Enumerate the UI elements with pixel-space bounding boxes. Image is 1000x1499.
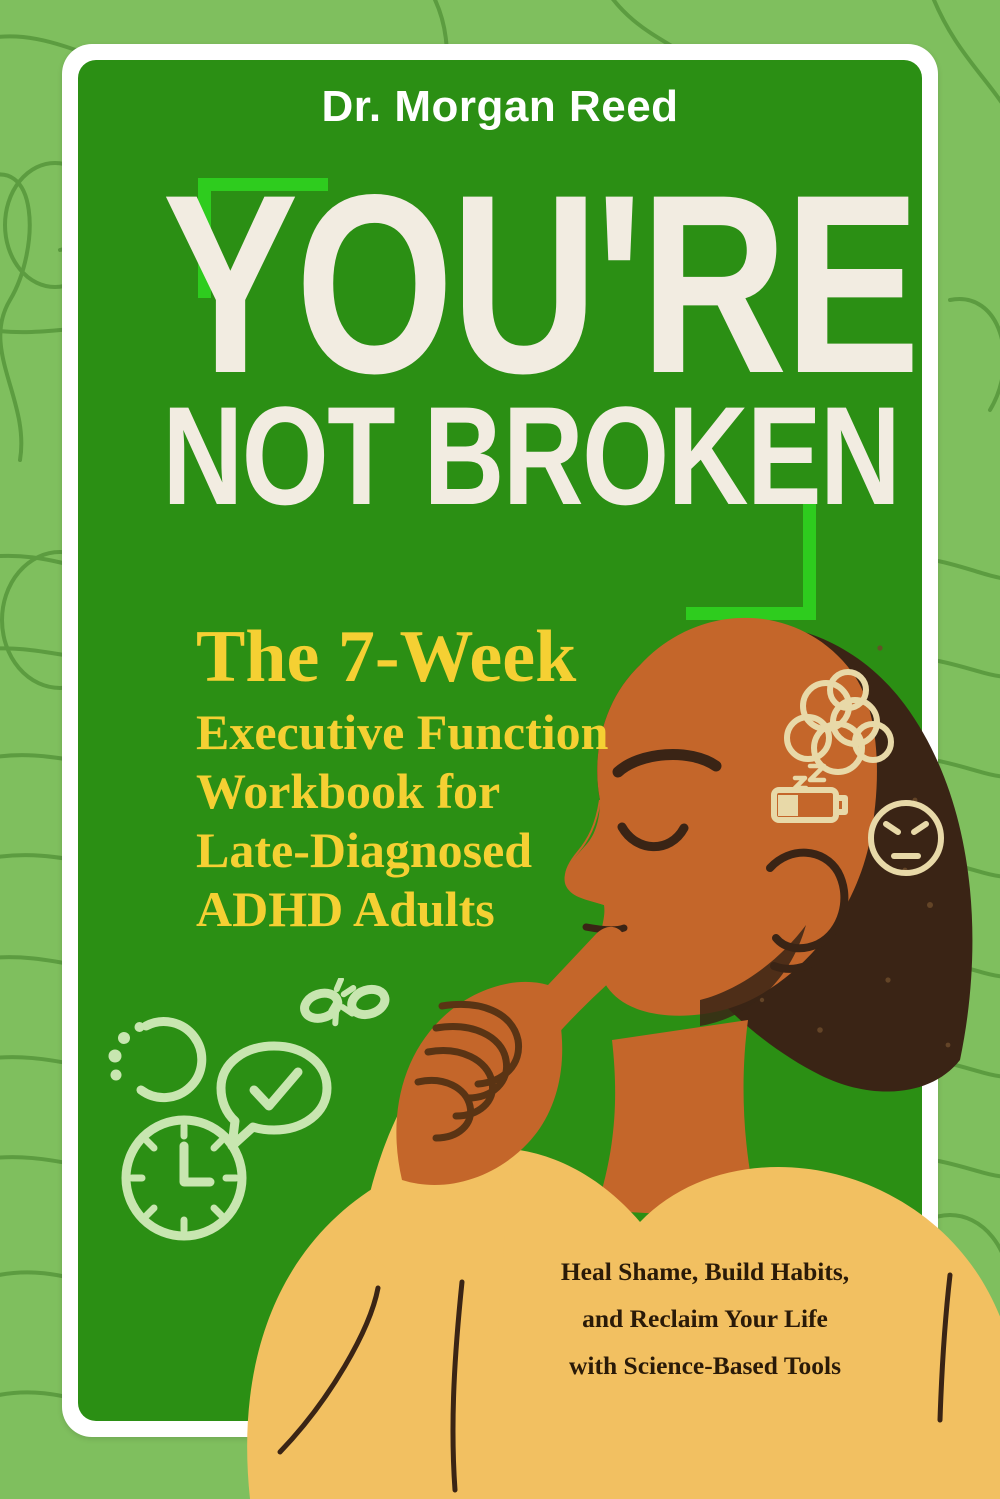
- tagline-line-1: Heal Shame, Build Habits,: [505, 1248, 905, 1295]
- subtitle-line-3: Late-Diagnosed: [196, 821, 726, 880]
- subtitle-line-2: Workbook for: [196, 762, 726, 821]
- tagline-line-3: with Science-Based Tools: [505, 1342, 905, 1389]
- tagline-line-2: and Reclaim Your Life: [505, 1295, 905, 1342]
- subtitle-line-1: Executive Function: [196, 703, 726, 762]
- cover-tagline: Heal Shame, Build Habits, and Reclaim Yo…: [505, 1248, 905, 1390]
- clock-icon: [126, 1120, 242, 1236]
- title-line-2: NOT BROKEN: [162, 399, 837, 514]
- book-cover: Dr. Morgan Reed YOU'RE NOT BROKEN The 7-…: [0, 0, 1000, 1499]
- loading-spinner-icon: [109, 1022, 202, 1098]
- title-line-1: YOU'RE: [162, 180, 837, 389]
- panel-icon-cluster: [106, 978, 406, 1258]
- speech-bubble-check-icon: [221, 1046, 327, 1146]
- subtitle-line-4: ADHD Adults: [196, 880, 726, 939]
- subtitle-lead: The 7-Week: [196, 620, 726, 695]
- broken-chain-icon: [299, 978, 388, 1033]
- book-title: YOU'RE NOT BROKEN: [78, 180, 922, 514]
- book-subtitle: The 7-Week Executive Function Workbook f…: [196, 620, 726, 939]
- author-name: Dr. Morgan Reed: [78, 82, 922, 132]
